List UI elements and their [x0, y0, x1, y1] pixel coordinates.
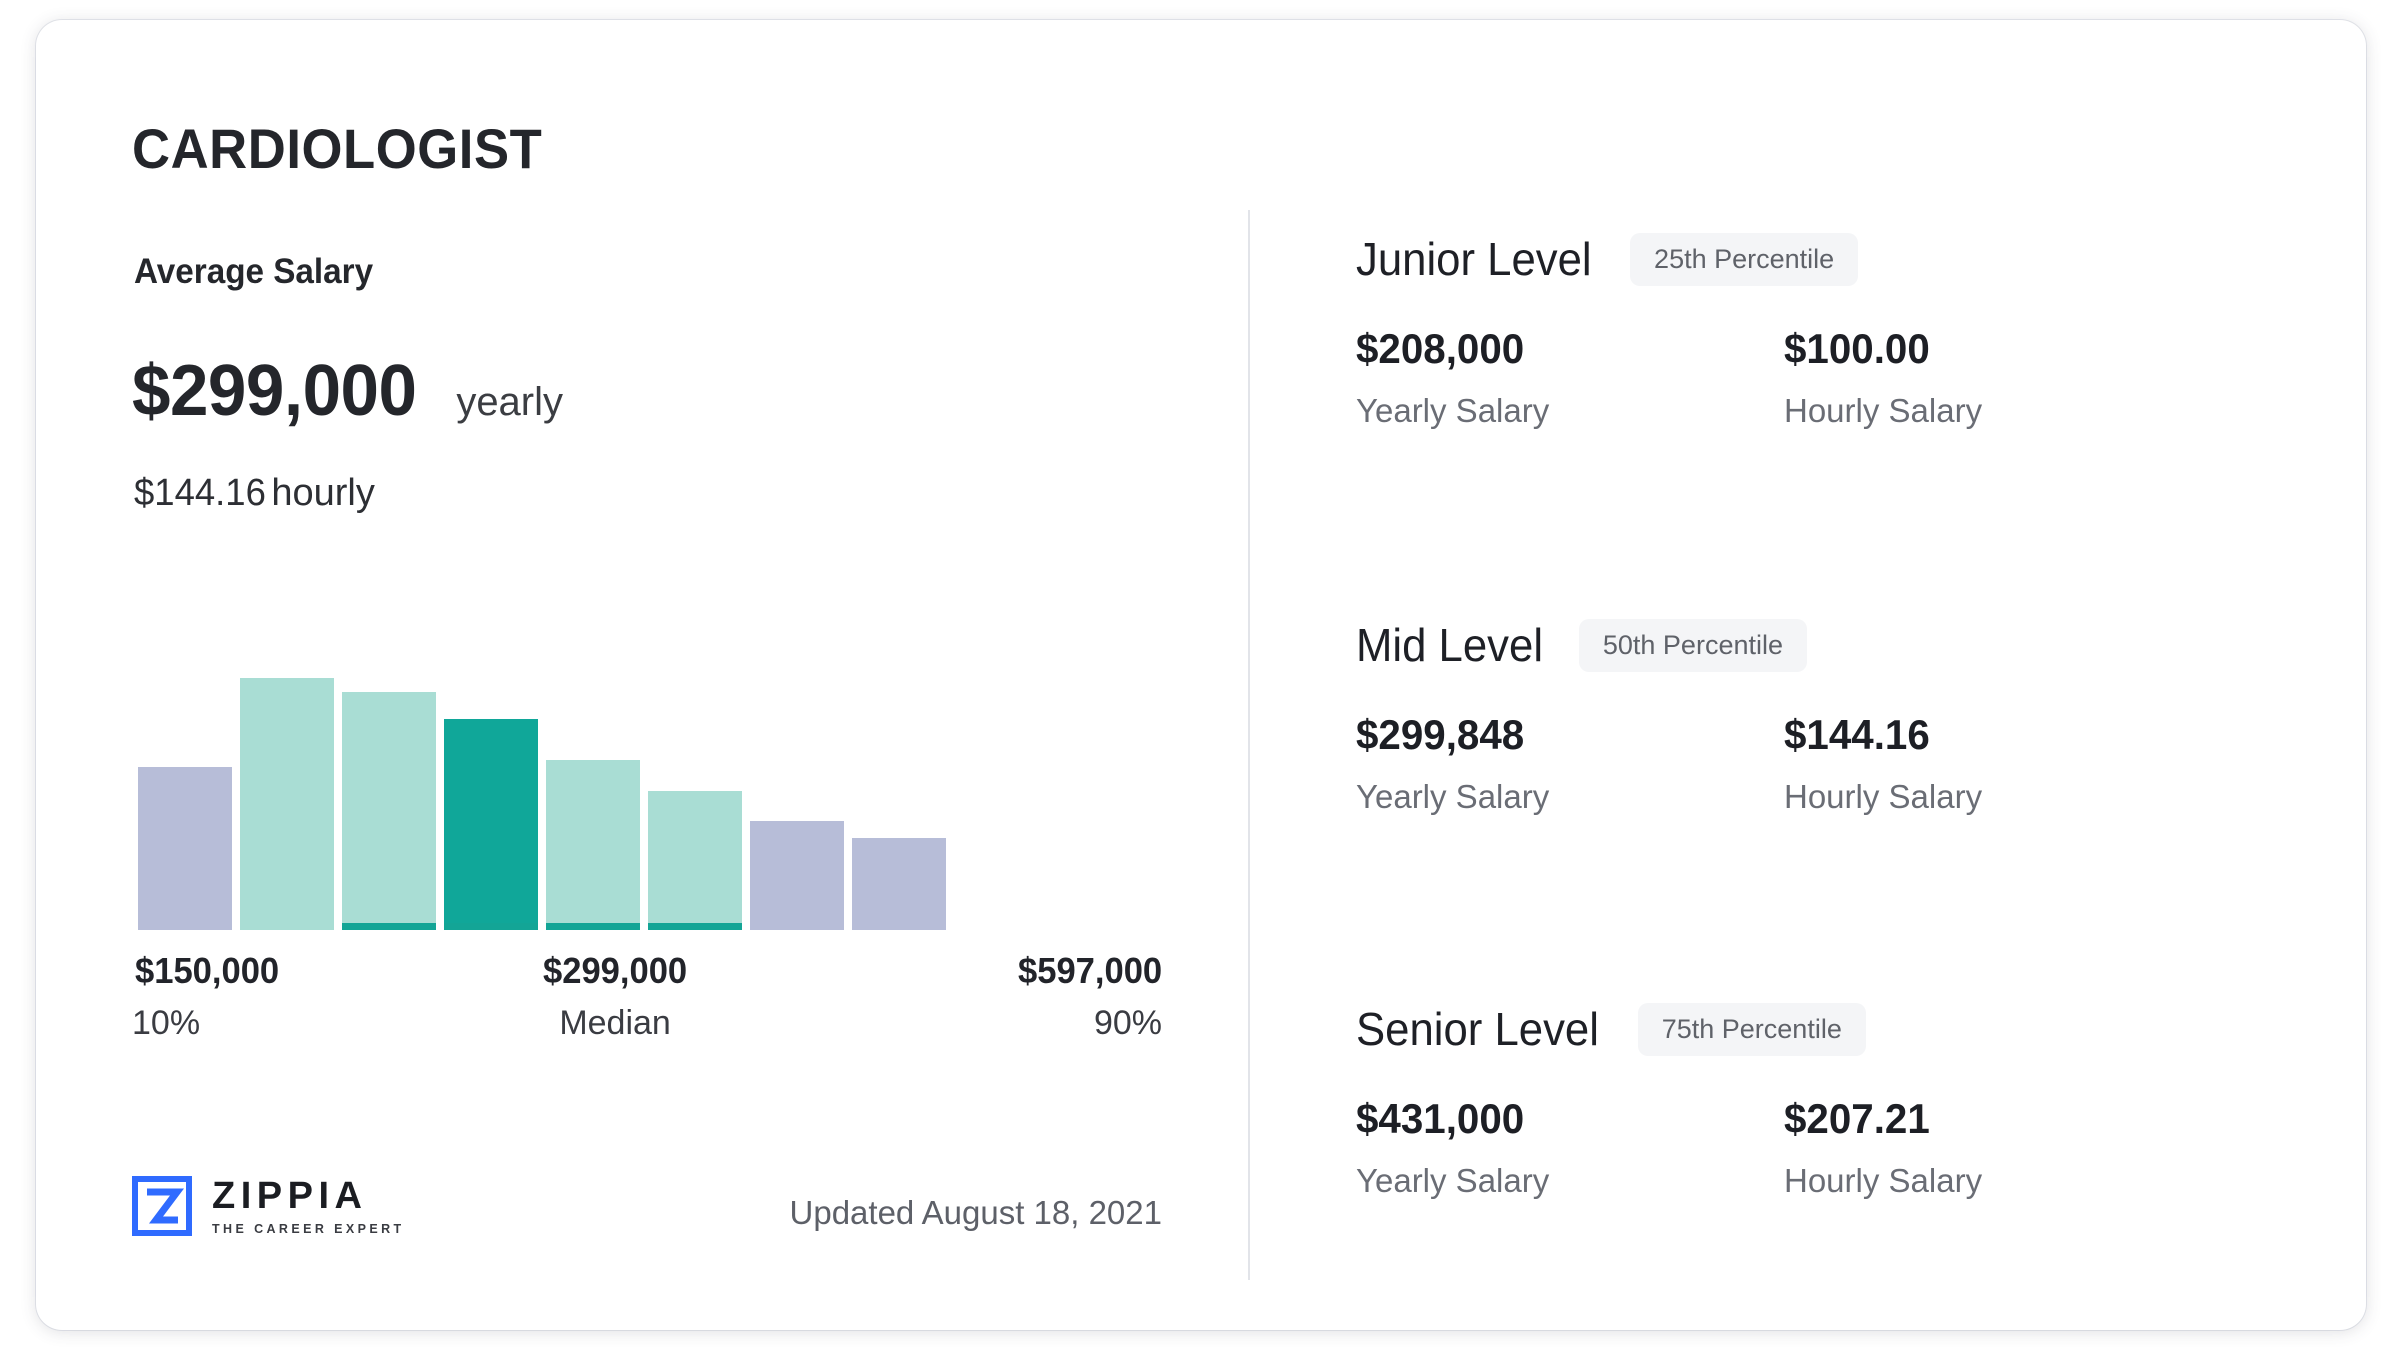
axis-tick-p10-label: 10%	[132, 1004, 282, 1043]
axis-tick-median-label: Median	[540, 1004, 690, 1043]
axis-tick-p90: $597,000 90%	[1012, 950, 1162, 1043]
zippia-wordmark: ZIPPIA	[212, 1177, 405, 1215]
chart-bar-accent	[342, 923, 436, 930]
chart-bar-slot	[236, 590, 338, 930]
chart-bar-slot	[134, 590, 236, 930]
left-panel: CARDIOLOGIST Average Salary $299,000 yea…	[36, 20, 1248, 1330]
yearly-salary-cell-senior: $431,000 Yearly Salary	[1356, 1098, 1549, 1200]
chart-bar-slot	[848, 590, 950, 930]
average-salary-label: Average Salary	[134, 252, 373, 292]
salary-distribution-chart	[134, 590, 1154, 930]
panel-divider	[1248, 210, 1250, 1280]
yearly-salary-amount-junior: $208,000	[1356, 328, 1541, 370]
salary-row-senior: $431,000 Yearly Salary $207.21 Hourly Sa…	[1356, 1098, 2346, 1228]
chart-bar-slot	[746, 590, 848, 930]
updated-timestamp: Updated August 18, 2021	[790, 1194, 1162, 1232]
chart-bar	[138, 767, 232, 930]
level-name-junior: Junior Level	[1356, 232, 1592, 286]
percentile-badge-junior: 25th Percentile	[1630, 233, 1858, 286]
chart-bar-slot	[542, 590, 644, 930]
zippia-logo-text: ZIPPIA THE CAREER EXPERT	[212, 1177, 405, 1236]
chart-bar	[342, 692, 436, 930]
salary-row-junior: $208,000 Yearly Salary $100.00 Hourly Sa…	[1356, 328, 2346, 458]
zippia-logo[interactable]: ZIPPIA THE CAREER EXPERT	[132, 1176, 405, 1236]
yearly-salary-caption-junior: Yearly Salary	[1356, 392, 1549, 430]
average-salary-yearly-period: yearly	[456, 380, 563, 425]
axis-tick-p90-label: 90%	[1012, 1004, 1162, 1043]
hourly-salary-caption-senior: Hourly Salary	[1784, 1162, 1982, 1200]
yearly-salary-caption-senior: Yearly Salary	[1356, 1162, 1549, 1200]
hourly-salary-amount-senior: $207.21	[1784, 1098, 1974, 1140]
average-salary-yearly-row: $299,000 yearly	[132, 350, 563, 432]
hourly-salary-cell-senior: $207.21 Hourly Salary	[1784, 1098, 1982, 1200]
chart-axis-labels: $150,000 10% $299,000 Median $597,000 90…	[132, 950, 1162, 1070]
zippia-tagline: THE CAREER EXPERT	[212, 1223, 405, 1236]
chart-bar	[750, 821, 844, 930]
axis-tick-p90-value: $597,000	[1018, 950, 1162, 992]
chart-bar	[648, 791, 742, 930]
axis-tick-p10: $150,000 10%	[132, 950, 282, 1043]
level-name-mid: Mid Level	[1356, 618, 1543, 672]
zippia-z-logo-icon	[132, 1176, 192, 1236]
level-block-junior: Junior Level 25th Percentile $208,000 Ye…	[1356, 228, 2346, 458]
chart-bar	[444, 719, 538, 930]
yearly-salary-amount-senior: $431,000	[1356, 1098, 1541, 1140]
percentile-badge-mid: 50th Percentile	[1579, 619, 1807, 672]
hourly-salary-caption-junior: Hourly Salary	[1784, 392, 1982, 430]
level-header-mid: Mid Level 50th Percentile	[1356, 614, 2346, 676]
card-footer: ZIPPIA THE CAREER EXPERT Updated August …	[132, 1170, 1162, 1260]
right-panel: Junior Level 25th Percentile $208,000 Ye…	[1306, 20, 2366, 1330]
chart-bar	[240, 678, 334, 930]
level-name-senior: Senior Level	[1356, 1002, 1599, 1056]
yearly-salary-amount-mid: $299,848	[1356, 714, 1541, 756]
yearly-salary-cell-mid: $299,848 Yearly Salary	[1356, 714, 1549, 816]
hourly-salary-cell-junior: $100.00 Hourly Salary	[1784, 328, 1982, 430]
screenshot-root: CARDIOLOGIST Average Salary $299,000 yea…	[0, 0, 2400, 1350]
percentile-badge-senior: 75th Percentile	[1638, 1003, 1866, 1056]
axis-tick-median-value: $299,000	[543, 950, 687, 992]
average-salary-hourly-row: $144.16 hourly	[134, 472, 375, 515]
chart-bar-slot	[440, 590, 542, 930]
level-header-senior: Senior Level 75th Percentile	[1356, 998, 2346, 1060]
salary-card: CARDIOLOGIST Average Salary $299,000 yea…	[36, 20, 2366, 1330]
hourly-salary-amount-mid: $144.16	[1784, 714, 1974, 756]
yearly-salary-cell-junior: $208,000 Yearly Salary	[1356, 328, 1549, 430]
average-salary-hourly-amount: $144.16	[134, 472, 266, 515]
chart-bar-accent	[648, 923, 742, 930]
axis-tick-p10-value: $150,000	[135, 950, 279, 992]
salary-row-mid: $299,848 Yearly Salary $144.16 Hourly Sa…	[1356, 714, 2346, 844]
level-header-junior: Junior Level 25th Percentile	[1356, 228, 2346, 290]
chart-bar-accent	[546, 923, 640, 930]
chart-bars	[134, 590, 1154, 930]
chart-bar-slot	[338, 590, 440, 930]
level-block-mid: Mid Level 50th Percentile $299,848 Yearl…	[1356, 614, 2346, 844]
chart-bar-slot	[644, 590, 746, 930]
average-salary-hourly-period: hourly	[271, 472, 375, 515]
chart-bar	[546, 760, 640, 930]
page-title: CARDIOLOGIST	[132, 116, 542, 181]
hourly-salary-amount-junior: $100.00	[1784, 328, 1974, 370]
chart-bar-accent	[444, 923, 538, 930]
hourly-salary-caption-mid: Hourly Salary	[1784, 778, 1982, 816]
yearly-salary-caption-mid: Yearly Salary	[1356, 778, 1549, 816]
axis-tick-median: $299,000 Median	[540, 950, 690, 1043]
average-salary-yearly-amount: $299,000	[132, 350, 416, 432]
hourly-salary-cell-mid: $144.16 Hourly Salary	[1784, 714, 1982, 816]
chart-bar	[852, 838, 946, 930]
level-block-senior: Senior Level 75th Percentile $431,000 Ye…	[1356, 998, 2346, 1228]
